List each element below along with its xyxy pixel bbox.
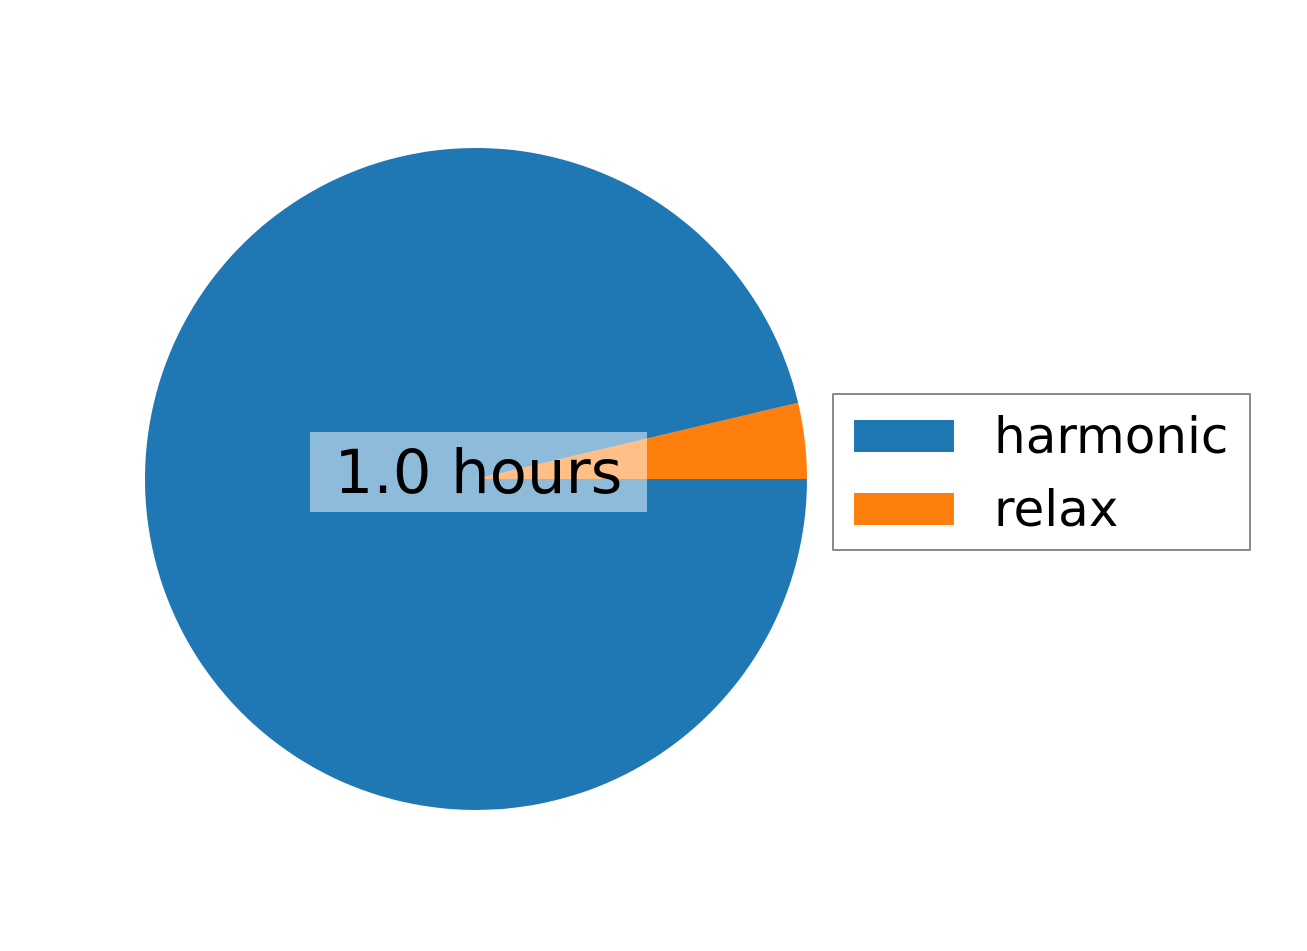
legend-entry-relax[interactable]: relax: [854, 484, 1118, 534]
legend-label-relax: relax: [994, 484, 1118, 534]
legend-label-harmonic: harmonic: [994, 411, 1228, 461]
pie-center-label: 1.0 hours: [310, 432, 647, 512]
legend-entry-harmonic[interactable]: harmonic: [854, 411, 1228, 461]
pie-center-label-text: 1.0 hours: [335, 442, 623, 503]
legend-swatch-relax: [854, 493, 954, 525]
legend-swatch-harmonic: [854, 420, 954, 452]
chart-legend: harmonic relax: [832, 393, 1251, 551]
pie-chart-figure: 1.0 hours harmonic relax: [0, 0, 1307, 951]
